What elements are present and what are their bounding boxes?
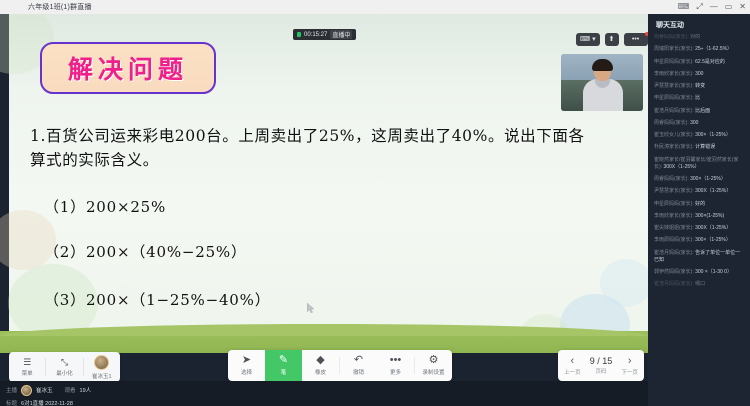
- slide-question: 1.百货公司运来彩电200台。上周卖出了25%，这周卖出了40%。说出下面各算式…: [30, 124, 590, 172]
- next-page-button[interactable]: › 下一页: [615, 356, 644, 376]
- status-bar: 主播 崔冰玉 观看 19人 标题 6对1直播 2022-11-28: [0, 381, 648, 406]
- menu-label: 菜单: [22, 369, 33, 377]
- chat-message-text: 300X（1-25%）: [695, 225, 731, 231]
- chat-message-text: 25÷（1-62.5%）: [695, 46, 732, 52]
- slide-expression-2: （2）200×（40%−25%）: [44, 241, 247, 262]
- eraser-icon: ◆: [316, 355, 324, 366]
- prev-page-button[interactable]: ‹ 上一页: [558, 356, 587, 376]
- chat-message-name: 崔浩月妈妈(家长):: [654, 250, 694, 256]
- tool-record-settings-label: 录制设置: [422, 368, 444, 376]
- minimize-icon: ⤡: [61, 358, 68, 367]
- minimize-button[interactable]: ⤡ 最小化: [46, 358, 82, 377]
- chat-message-text: 300X（1-25%）: [695, 188, 731, 194]
- chat-message-text: 300X（1-25%）: [663, 164, 699, 170]
- chat-panel: 聊天互动 周睿妈妈(家长): 对的 周瑞阳家长(家长): 25÷（1-62.5%…: [648, 14, 750, 406]
- avatar: [94, 355, 109, 370]
- chat-message: 尹慧慧家长(家长): 300X（1-25%）: [654, 188, 744, 195]
- chat-message: 朴民涛家长(家长): 计算错误: [654, 144, 744, 151]
- close-icon[interactable]: ✕: [739, 3, 746, 11]
- chat-message: 周睿妈妈(家长): 300: [654, 120, 744, 127]
- page-number: 9 / 15: [590, 356, 613, 366]
- video-person-hair: [592, 59, 613, 71]
- cursor-icon: ➤: [242, 355, 251, 366]
- minimize-label: 最小化: [56, 369, 73, 377]
- share-icon: ⬆: [609, 36, 615, 43]
- gear-icon: ⚙: [429, 355, 439, 366]
- live-timer-pill: 00:15:27 直播中: [293, 29, 356, 40]
- chat-message-name: 申星辰妈妈(家长):: [654, 201, 694, 207]
- page-navigation: ‹ 上一页 9 / 15 页码 › 下一页: [558, 350, 644, 381]
- chat-message: 郭伊然妈妈(家长): 300 ×（1-30 0）: [654, 269, 744, 276]
- chevron-left-icon: ‹: [571, 356, 575, 367]
- chat-message-text: 比: [695, 95, 700, 101]
- chevron-right-icon: ›: [628, 356, 632, 367]
- chat-message-name: 周睿妈妈(家长):: [654, 34, 689, 40]
- chat-message: 申星辰妈妈(家长): 比: [654, 95, 744, 102]
- chat-message: 李雨辰妈妈(家长): 300×（1-25%）: [654, 237, 744, 244]
- viewers-value: 19人: [80, 386, 92, 394]
- chat-message: 崔玉欣女儿(家长): 300×（1-25%）: [654, 132, 744, 139]
- tool-select[interactable]: ➤ 选择: [228, 350, 265, 381]
- chat-message: 崔浩月妈妈(家长): 告诉了单位一单位一已知: [654, 250, 744, 265]
- chat-message: 周瑞阳家长(家长): 25÷（1-62.5%）: [654, 46, 744, 53]
- chat-message: 周睿妈妈(家长): 300×（1-25%）: [654, 176, 744, 183]
- slide-expression-1: （1）200×25%: [44, 196, 166, 217]
- chat-message: 李雨欣家长(家长): 300×(1-25%): [654, 213, 744, 220]
- video-controls: ⌨ ▾ ⬆ •••: [576, 33, 648, 46]
- tool-select-label: 选择: [241, 368, 252, 376]
- tool-record-settings[interactable]: ⚙ 录制设置: [415, 350, 452, 381]
- window-title: 六年级1班(1)群直播: [28, 2, 92, 12]
- chat-message-text: 嗯口: [695, 281, 705, 287]
- maximize-icon[interactable]: ▭: [725, 3, 733, 11]
- slide-expression-3: （3）200×（1−25%−40%）: [44, 289, 271, 310]
- prev-page-label: 上一页: [564, 368, 581, 376]
- chat-message-name: 申星辰妈妈(家长):: [654, 59, 694, 65]
- chat-message-name: 崔浩月妈妈(家长):: [654, 281, 694, 287]
- chat-message-name: 李雨欣家长(家长):: [654, 213, 694, 219]
- chat-message-text: 62.5是对应的: [695, 59, 725, 65]
- chat-message: 崔浩月妈妈(家长): 比后面: [654, 108, 744, 115]
- tool-pen-label: 笔: [281, 368, 287, 376]
- more-icon: •••: [390, 355, 402, 366]
- chat-message: 申星辰妈妈(家长): 62.5是对应的: [654, 59, 744, 66]
- live-status-badge: 直播中: [330, 30, 352, 39]
- host-key: 主播: [6, 386, 17, 394]
- chat-message-text: 对的: [690, 34, 700, 40]
- chat-message-text: 比后面: [695, 108, 710, 114]
- page-indicator[interactable]: 9 / 15 页码: [587, 356, 616, 375]
- camera-button[interactable]: ⌨ ▾: [576, 33, 600, 46]
- decor-blob: [600, 259, 648, 307]
- chat-message-text: 好的: [695, 201, 705, 207]
- chat-message-text: 300×（1-25%）: [695, 132, 731, 138]
- chat-message-name: 崔尖妹姐姐(家长):: [654, 225, 694, 231]
- chat-message: 崔浩月妈妈(家长): 嗯口: [654, 281, 744, 288]
- share-button[interactable]: ⬆: [605, 33, 619, 46]
- more-icon: •••: [632, 36, 639, 43]
- menu-icon: ☰: [23, 358, 31, 367]
- chat-message-text: 转变: [695, 83, 705, 89]
- camera-icon: ⌨: [580, 36, 590, 43]
- chat-message: 崔尖妹姐姐(家长): 300X（1-25%）: [654, 225, 744, 232]
- chat-message-name: 周睿妈妈(家长):: [654, 176, 689, 182]
- next-page-label: 下一页: [621, 368, 638, 376]
- chat-message-name: 周瑞阳家长(家长):: [654, 46, 694, 52]
- left-toolbar: ☰ 菜单 ⤡ 最小化 崔冰玉1: [9, 352, 120, 382]
- slide-title-box: 解决问题: [40, 42, 216, 94]
- menu-button[interactable]: ☰ 菜单: [9, 358, 45, 377]
- chevron-down-icon: ▾: [592, 36, 596, 43]
- chat-message-text: 300: [695, 71, 703, 77]
- chat-message-text: 300×（1-25%）: [690, 176, 726, 182]
- live-dot-icon: [297, 32, 301, 37]
- tool-eraser[interactable]: ◆ 橡皮: [302, 350, 339, 381]
- tool-more[interactable]: ••• 更多: [377, 350, 414, 381]
- live-class-app: 六年级1班(1)群直播 ⌨ ⤢ — ▭ ✕ 00:15:27 直播中 ⌨ ▾: [0, 0, 750, 406]
- chat-message: 申星辰妈妈(家长): 好的: [654, 201, 744, 208]
- stream-title-key: 标题: [6, 399, 17, 406]
- live-timer: 00:15:27: [304, 32, 327, 38]
- host-user-label: 崔冰玉1: [92, 372, 112, 380]
- expand-icon[interactable]: ⤢: [696, 3, 702, 11]
- chat-message-name: 郭伊然妈妈(家长):: [654, 269, 694, 275]
- teacher-video[interactable]: [561, 54, 643, 111]
- chat-message-text: 300 ×（1-30 0）: [695, 269, 732, 275]
- chat-message-text: 300×(1-25%): [695, 213, 724, 219]
- status-row-host: 主播 崔冰玉 观看 19人: [6, 385, 648, 395]
- chat-message-name: 申星辰妈妈(家长):: [654, 95, 694, 101]
- chat-message-name: 周睿妈妈(家长):: [654, 120, 689, 126]
- chat-message-text: 300: [690, 120, 698, 126]
- chat-message-name: 李雨辰妈妈(家长):: [654, 237, 694, 243]
- slide-title: 解决问题: [68, 50, 188, 86]
- minimize-icon[interactable]: —: [710, 3, 718, 11]
- video-more-button[interactable]: •••: [624, 33, 648, 46]
- chat-message-name: 尹慧慧家长(家长):: [654, 83, 694, 89]
- tool-eraser-label: 橡皮: [315, 368, 326, 376]
- chat-message-name: 崔玉欣女儿(家长):: [654, 132, 694, 138]
- chat-message-name: 崔浩月妈妈(家长):: [654, 108, 694, 114]
- chat-message: 李雨欣家长(家长): 300: [654, 71, 744, 78]
- whiteboard-stage[interactable]: 00:15:27 直播中 ⌨ ▾ ⬆ •••: [0, 14, 648, 353]
- chat-message-name: 李雨欣家长(家长):: [654, 71, 694, 77]
- tool-undo[interactable]: ↶ 撤销: [340, 350, 377, 381]
- status-row-title: 标题 6对1直播 2022-11-28: [6, 398, 648, 406]
- mouse-cursor-icon: [307, 303, 315, 313]
- window-titlebar: 六年级1班(1)群直播 ⌨ ⤢ — ▭ ✕: [0, 0, 750, 15]
- window-controls: ⌨ ⤢ — ▭ ✕: [678, 0, 746, 14]
- tool-pen[interactable]: ✎ 笔: [265, 350, 302, 381]
- chat-header: 聊天互动: [648, 14, 750, 33]
- undo-icon: ↶: [354, 355, 363, 366]
- chat-message-name: 朴民涛家长(家长):: [654, 144, 694, 150]
- chat-message-name: 尹慧慧家长(家长):: [654, 188, 694, 194]
- pen-icon: ✎: [279, 355, 288, 366]
- stream-title-value: 6对1直播 2022-11-28: [21, 399, 73, 406]
- host-value: 崔冰玉: [36, 386, 53, 394]
- drawing-toolbar: ➤ 选择 ✎ 笔 ◆ 橡皮 ↶ 撤销 ••• 更多 ⚙ 录制设置: [228, 350, 452, 381]
- tool-more-label: 更多: [390, 368, 401, 376]
- avatar: [21, 385, 32, 396]
- chat-message-text: 300×（1-25%）: [695, 237, 731, 243]
- chat-message: 周睿妈妈(家长): 对的: [654, 34, 744, 41]
- page-number-label: 页码: [596, 367, 607, 375]
- chat-message-list[interactable]: 周睿妈妈(家长): 对的 周瑞阳家长(家长): 25÷（1-62.5%） 申星辰…: [648, 34, 750, 334]
- tool-undo-label: 撤销: [353, 368, 364, 376]
- chat-message: 尹慧慧家长(家长): 转变: [654, 83, 744, 90]
- keyboard-icon[interactable]: ⌨: [678, 3, 690, 11]
- viewers-key: 观看: [65, 386, 76, 394]
- chat-message-text: 计算错误: [695, 144, 715, 150]
- host-user-button[interactable]: 崔冰玉1: [84, 355, 120, 380]
- chat-message: 崔晓然家长/崔羽馨家长/崔羽然家长(家长): 300X（1-25%）: [654, 157, 744, 172]
